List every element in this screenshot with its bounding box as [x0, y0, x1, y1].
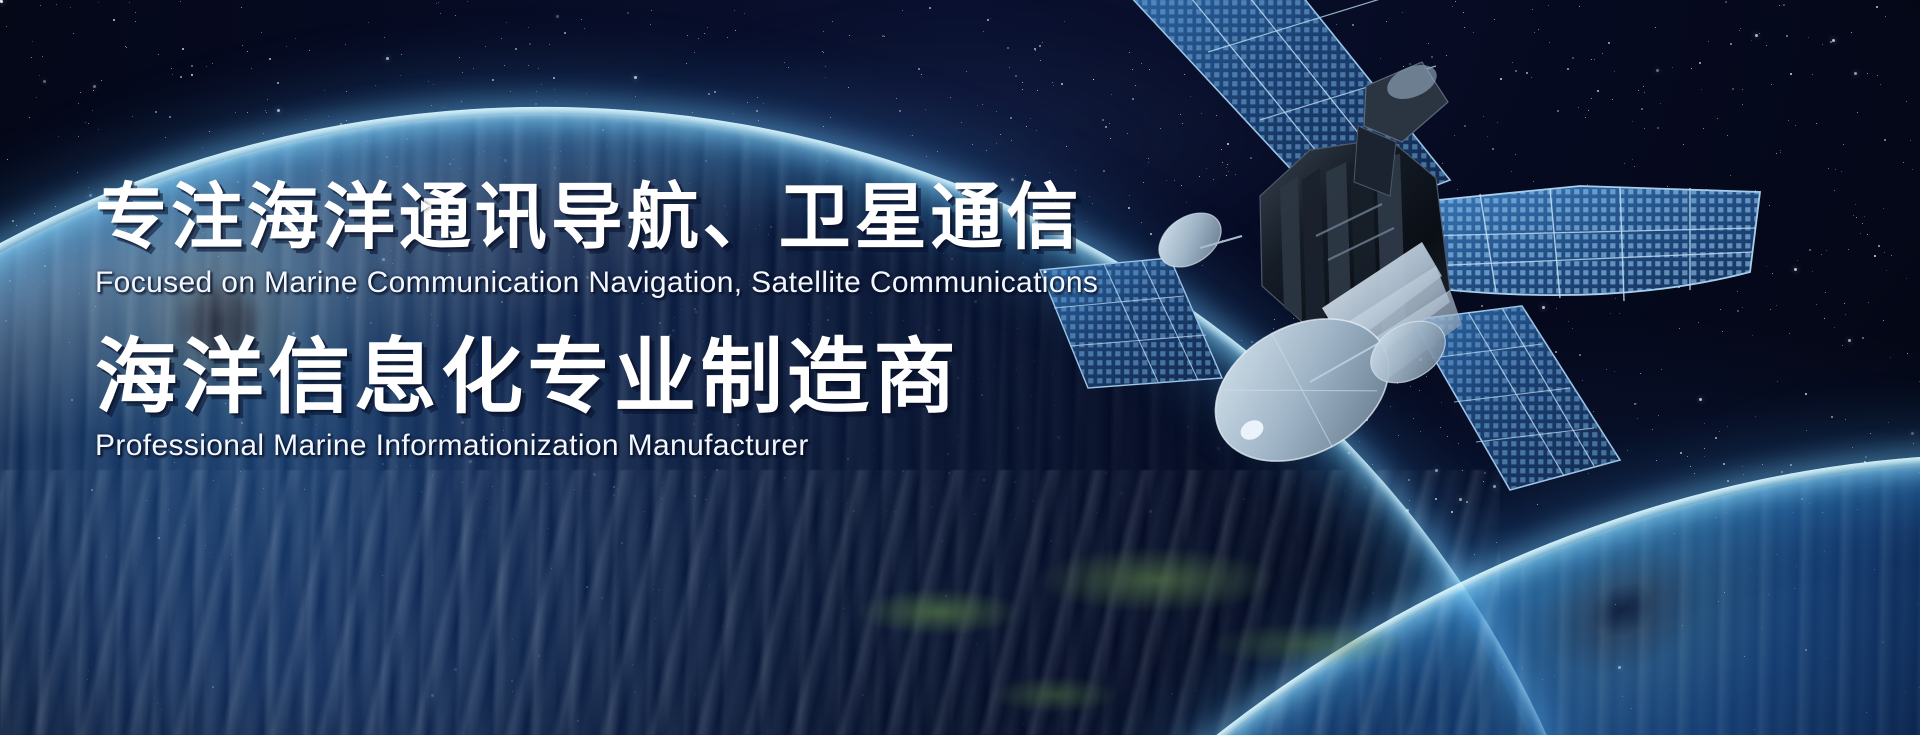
headline-block-2: 海洋信息化专业制造商 Professional Marine Informati… — [95, 337, 960, 462]
subhead-en-2: Professional Marine Informationization M… — [95, 429, 960, 462]
headline-block-1: 专注海洋通讯导航、卫星通信 Focused on Marine Communic… — [95, 182, 1098, 299]
headline-cn-2: 海洋信息化专业制造商 — [95, 337, 960, 419]
headline-cn-1: 专注海洋通讯导航、卫星通信 — [95, 182, 1098, 254]
banner-hero: 专注海洋通讯导航、卫星通信 Focused on Marine Communic… — [0, 0, 1920, 735]
solar-panel-right — [1418, 186, 1760, 301]
cursor-arrow-icon — [421, 200, 430, 212]
satellite-icon — [1150, 0, 1920, 570]
subhead-en-1: Focused on Marine Communication Navigati… — [95, 266, 1098, 299]
